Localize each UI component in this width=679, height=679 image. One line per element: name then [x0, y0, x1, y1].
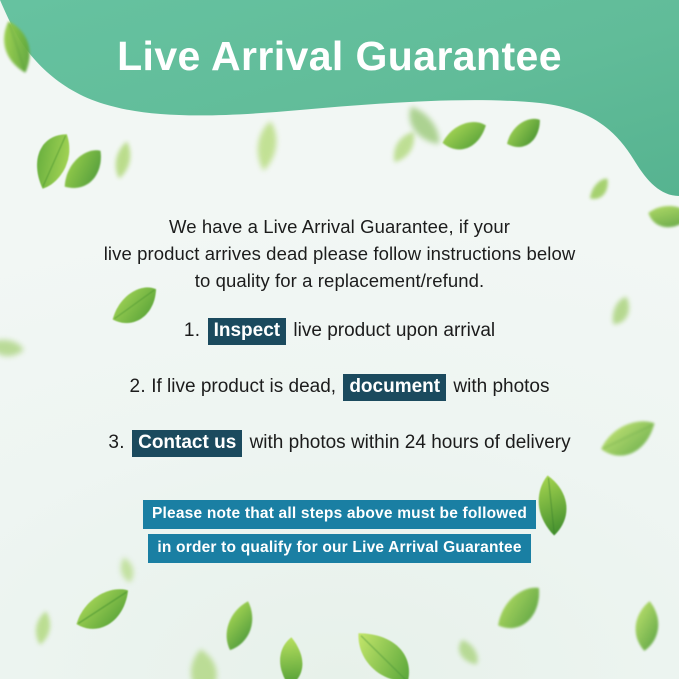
leaf-icon	[352, 621, 420, 679]
note-row-1: Please note that all steps above must be…	[0, 500, 679, 529]
note-banner: Please note that all steps above must be…	[0, 500, 679, 563]
live-arrival-guarantee-poster: Live Arrival Guarantee We have a Live Ar…	[0, 0, 679, 679]
intro-line-1: We have a Live Arrival Guarantee, if you…	[50, 213, 629, 240]
leaf-icon	[450, 634, 485, 671]
leaf-icon	[29, 608, 57, 647]
leaf-icon	[627, 598, 666, 653]
page-title: Live Arrival Guarantee	[0, 30, 679, 82]
intro-line-2: live product arrives dead please follow …	[50, 240, 629, 267]
step-highlight-contact-us: Contact us	[132, 430, 242, 457]
step-item-2: 2. If live product is dead, document wit…	[0, 374, 679, 401]
step-item-3: 3. Contact us with photos within 24 hour…	[0, 430, 679, 457]
step-number: 3.	[108, 432, 124, 453]
leaf-icon	[214, 594, 266, 658]
note-row-2: in order to qualify for our Live Arrival…	[0, 534, 679, 563]
step-highlight-document: document	[343, 374, 446, 401]
intro-paragraph: We have a Live Arrival Guarantee, if you…	[50, 213, 629, 294]
steps-list: 1. Inspect live product upon arrival 2. …	[0, 318, 679, 486]
step-number: 2.	[129, 376, 145, 397]
note-line-1: Please note that all steps above must be…	[143, 500, 536, 529]
step-highlight-inspect: Inspect	[208, 318, 287, 345]
leaf-icon	[484, 577, 557, 646]
step-item-1: 1. Inspect live product upon arrival	[0, 318, 679, 345]
step-text-after: live product upon arrival	[293, 320, 495, 341]
step-text-before: If live product is dead,	[151, 376, 336, 397]
leaf-icon	[66, 579, 143, 646]
intro-line-3: to quality for a replacement/refund.	[50, 267, 629, 294]
step-number: 1.	[184, 320, 200, 341]
step-text-after: with photos	[453, 376, 549, 397]
leaf-icon	[262, 632, 321, 679]
leaf-icon	[179, 645, 230, 679]
step-text-after: with photos within 24 hours of delivery	[250, 432, 571, 453]
note-line-2: in order to qualify for our Live Arrival…	[148, 534, 530, 563]
